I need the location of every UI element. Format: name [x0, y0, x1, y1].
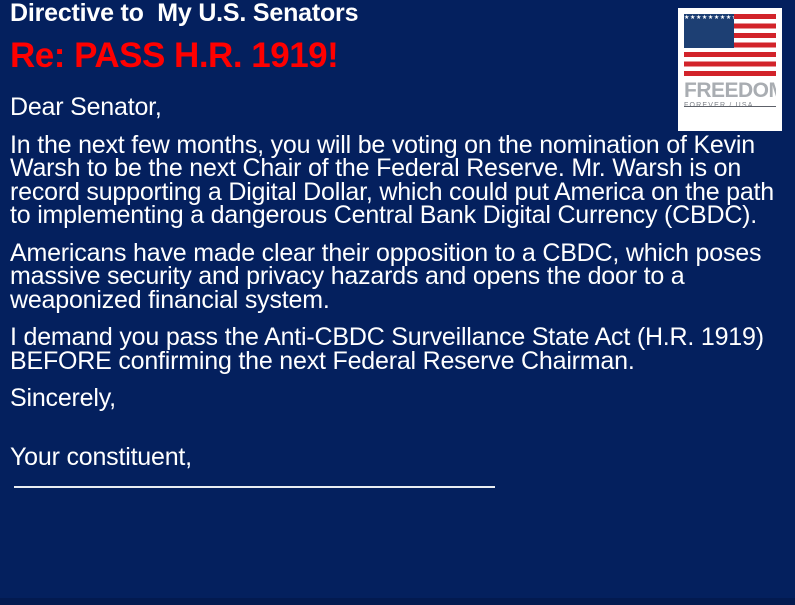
signer-label: Your constituent, [10, 446, 775, 470]
us-flag-stamp: ★★★★★★★★★★★★★★★★★★★★★★★★★★★★★★★★★★★★★★★★… [678, 8, 782, 131]
stamp-word-freedom: FREEDOM [684, 80, 776, 101]
paragraph-cbdc-opposition: Americans have made clear their oppositi… [10, 242, 775, 313]
stamp-subtitle-forever-usa: FOREVER / USA [684, 102, 776, 110]
paragraph-warsh-nomination: In the next few months, you will be voti… [10, 134, 775, 228]
page-title: Directive to My U.S. Senators [10, 0, 785, 27]
salutation: Dear Senator, [10, 96, 775, 120]
flag-graphic: ★★★★★★★★★★★★★★★★★★★★★★★★★★★★★★★★★★★★★★★★… [684, 14, 776, 76]
paragraph-demand-pass-act: I demand you pass the Anti-CBDC Surveill… [10, 326, 775, 373]
letter-body: Dear Senator, In the next few months, yo… [10, 76, 785, 488]
flag-canton: ★★★★★★★★★★★★★★★★★★★★★★★★★★★★★★★★★★★★★★★★… [684, 14, 734, 48]
headline-pass-hr-1919: Re: PASS H.R. 1919! [10, 27, 785, 76]
closing-sincerely: Sincerely, [10, 387, 775, 411]
flag-stars: ★★★★★★★★★★★★★★★★★★★★★★★★★★★★★★★★★★★★★★★★… [684, 14, 734, 48]
letter-page: ★★★★★★★★★★★★★★★★★★★★★★★★★★★★★★★★★★★★★★★★… [0, 0, 795, 605]
signature-gap [10, 411, 785, 446]
bottom-strip [0, 598, 795, 605]
signature-line[interactable] [14, 486, 495, 488]
